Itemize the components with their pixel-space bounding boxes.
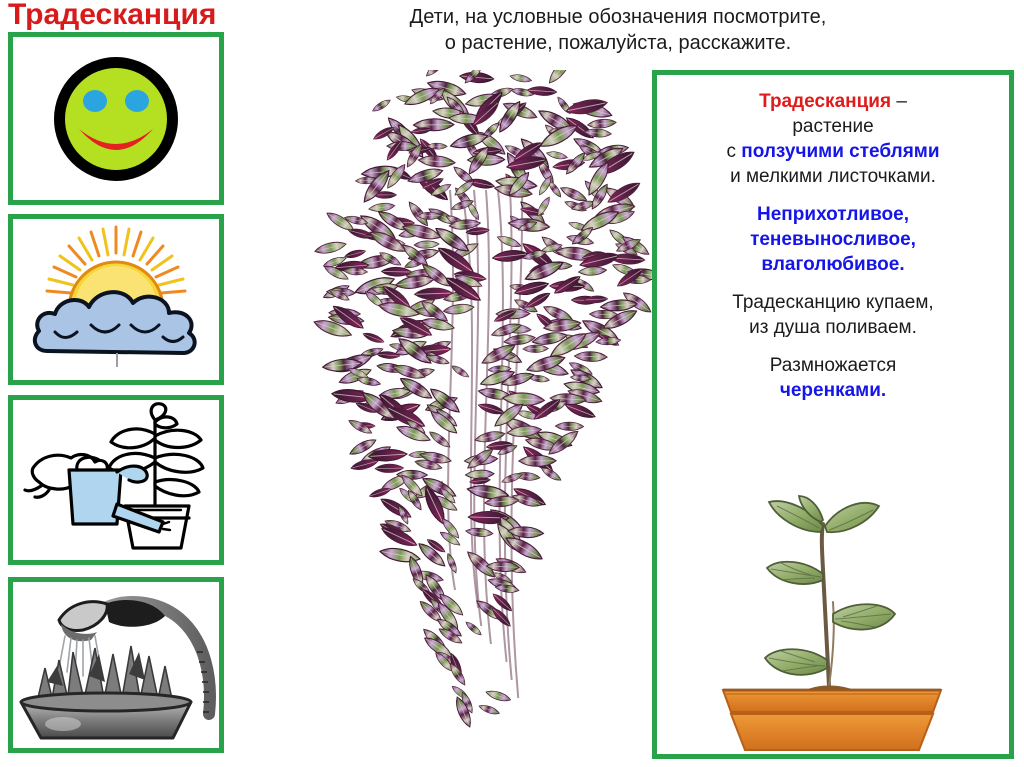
text-run: Размножается <box>770 355 897 376</box>
slide-root: Традесканция Дети, на условные обозначен… <box>0 0 1024 767</box>
text-run: Традесканция <box>759 91 891 112</box>
sun-behind-cloud-icon <box>13 219 219 380</box>
text-run: Неприхотливое, <box>757 204 909 225</box>
care-block: Традесканцию купаем,из душа поливаем. <box>667 290 999 340</box>
symbol-card-smiley[interactable] <box>8 32 224 205</box>
definition-block-line-3: с ползучими стеблями <box>667 139 999 164</box>
propagation-block: Размножаетсячеренками. <box>667 353 999 403</box>
info-panel-text: Традесканция – растениес ползучими стебл… <box>657 75 1009 403</box>
definition-block-line-2: растение <box>667 114 999 139</box>
page-title: Традесканция <box>8 0 216 32</box>
header-instruction-line-1: Дети, на условные обозначения посмотрите… <box>358 4 878 30</box>
definition-block-line-4: и мелкими листочками. <box>667 164 999 189</box>
properties-block-line-1: Неприхотливое, <box>667 202 999 227</box>
smiley-face-icon <box>13 37 219 200</box>
properties-block: Неприхотливое,теневыносливое,влаголюбиво… <box>667 202 999 277</box>
text-run: влаголюбивое. <box>761 254 904 275</box>
watering-can-hand-plant-icon <box>13 400 219 560</box>
rooted-cutting-in-pot-illustration <box>657 462 1009 752</box>
symbol-card-watering[interactable] <box>8 395 224 565</box>
care-block-line-2: из душа поливаем. <box>667 315 999 340</box>
text-run: теневыносливое, <box>750 229 916 250</box>
symbol-card-shower[interactable] <box>8 577 224 753</box>
properties-block-line-2: теневыносливое, <box>667 227 999 252</box>
symbol-card-sun-cloud[interactable] <box>8 214 224 385</box>
text-run: и мелкими листочками. <box>730 166 936 187</box>
text-run: с <box>726 141 741 162</box>
care-block-line-1: Традесканцию купаем, <box>667 290 999 315</box>
text-run: – <box>891 91 907 112</box>
header-instruction-line-2: о растение, пожалуйста, расскажите. <box>358 30 878 56</box>
text-run: Традесканцию купаем, <box>732 292 933 313</box>
propagation-block-line-2: черенками. <box>667 378 999 403</box>
definition-block-line-1: Традесканция – <box>667 89 999 114</box>
cutting-in-pot-drawing <box>657 462 1009 752</box>
info-panel: Традесканция – растениес ползучими стебл… <box>652 70 1014 759</box>
shower-watering-plants-icon <box>13 582 219 748</box>
text-run: черенками. <box>780 380 886 401</box>
tradescantia-plant-illustration <box>300 70 660 750</box>
propagation-block-line-1: Размножается <box>667 353 999 378</box>
text-run: растение <box>792 116 873 137</box>
text-run: из душа поливаем. <box>749 317 917 338</box>
properties-block-line-3: влаголюбивое. <box>667 252 999 277</box>
definition-block: Традесканция – растениес ползучими стебл… <box>667 89 999 189</box>
tradescantia-zebrina-photo <box>300 70 660 750</box>
header-instruction: Дети, на условные обозначения посмотрите… <box>358 4 878 56</box>
text-run: ползучими стеблями <box>741 141 939 162</box>
